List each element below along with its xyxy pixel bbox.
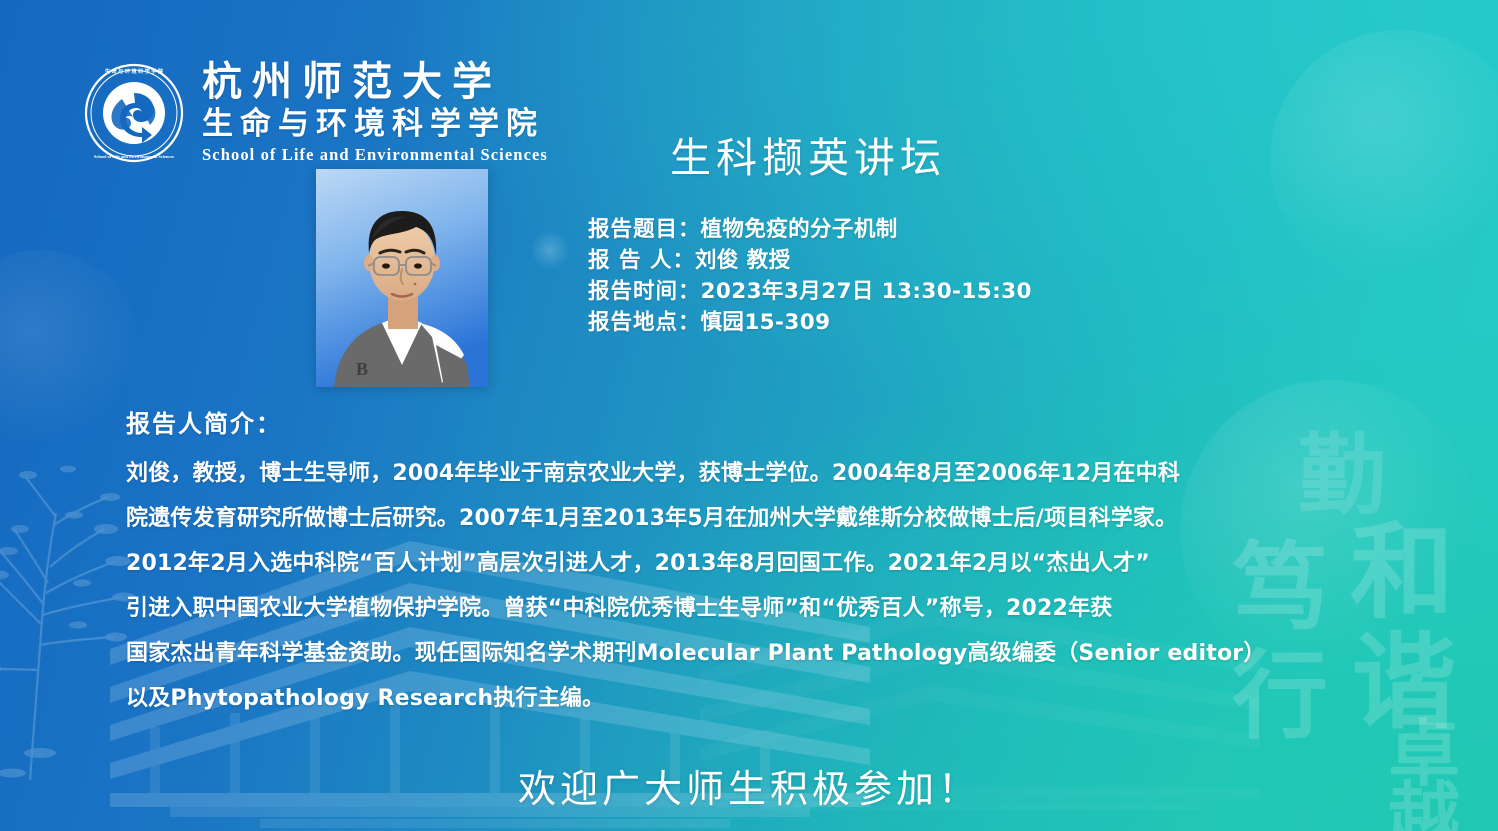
bio-line: 以及Phytopathology Research执行主编。 [126,676,1396,721]
college-logo: 生 命 与 环 境 科 学 学 院 School of Life and Env… [84,62,548,164]
bio-line: 引进入职中国农业大学植物保护学院。曾获“中科院优秀博士生导师”和“优秀百人”称号… [126,586,1396,631]
info-row-speaker: 报 告 人：刘俊 教授 [588,245,1032,276]
svg-text:B: B [356,359,368,379]
university-name-cn: 杭州师范大学 [202,62,548,102]
college-name-en: School of Life and Environmental Science… [202,147,548,164]
college-name-cn: 生命与环境科学学院 [202,109,548,140]
glow-blob [1270,30,1498,290]
bio-line: 院遗传发育研究所做博士后研究。2007年1月至2013年5月在加州大学戴维斯分校… [126,496,1396,541]
glow-blob [0,250,140,450]
info-label-venue: 报告地点： [588,310,701,335]
info-value-venue: 慎园15-309 [701,310,831,335]
info-row-topic: 报告题目：植物免疫的分子机制 [588,214,1032,245]
svg-text:School of Life and Environment: School of Life and Environmental Science… [94,154,174,159]
info-value-topic: 植物免疫的分子机制 [701,217,898,242]
bio-line: 2012年2月入选中科院“百人计划”高层次引进人才，2013年8月回国工作。20… [126,541,1396,586]
poster-headline: 生科撷英讲坛 [670,124,946,184]
info-value-speaker: 刘俊 教授 [695,248,791,273]
bio-line: 国家杰出青年科学基金资助。现任国际知名学术期刊Molecular Plant P… [126,631,1396,676]
info-row-time: 报告时间：2023年3月27日 13:30-15:30 [588,276,1032,307]
speaker-bio-block: 报告人简介： 刘俊，教授，博士生导师，2004年毕业于南京农业大学，获博士学位。… [126,404,1396,721]
seal-logo-icon: 生 命 与 环 境 科 学 学 院 School of Life and Env… [84,63,184,163]
svg-text:生 命 与 环 境 科 学 学 院: 生 命 与 环 境 科 学 学 院 [105,67,164,75]
info-value-time: 2023年3月27日 13:30-15:30 [701,279,1032,304]
logo-wordmark: 杭州师范大学 生命与环境科学学院 School of Life and Envi… [202,62,548,164]
speaker-portrait: B [316,169,488,387]
bio-line: 刘俊，教授，博士生导师，2004年毕业于南京农业大学，获博士学位。2004年8月… [126,451,1396,496]
seminar-poster: 勤 笃 行 和 谐 卓 越 生 命 与 环 境 科 学 学 院 School o… [0,0,1498,831]
footer-text: 欢迎广大师生积极参加！ [518,758,980,813]
info-label-time: 报告时间： [588,279,701,304]
glow-dot [530,230,570,270]
info-label-topic: 报告题目： [588,217,701,242]
info-row-venue: 报告地点：慎园15-309 [588,307,1032,338]
seminar-info-block: 报告题目：植物免疫的分子机制 报 告 人：刘俊 教授 报告时间：2023年3月2… [588,214,1032,338]
footer-invitation: 欢迎广大师生积极参加！ [0,758,1498,813]
info-label-speaker: 报 告 人： [588,248,695,273]
bio-heading: 报告人简介： [126,404,1396,439]
